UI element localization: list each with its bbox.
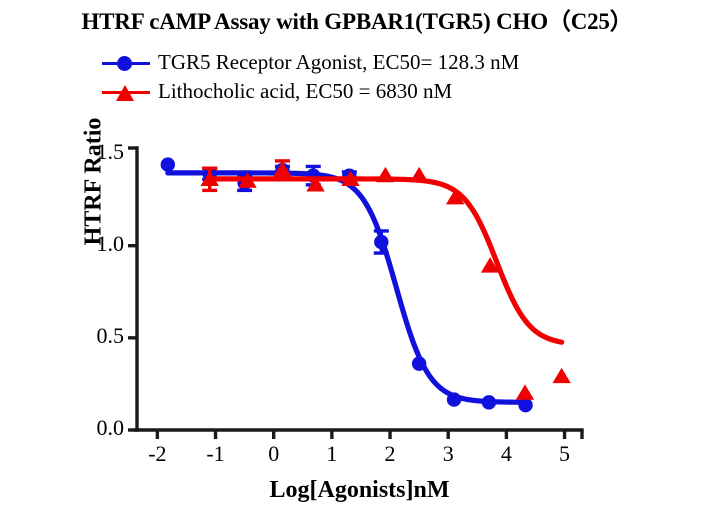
data-point-circle — [374, 235, 388, 249]
fit-curve-red — [210, 179, 562, 342]
x-tick-label: 0 — [254, 441, 294, 467]
x-tick-label: -1 — [196, 441, 236, 467]
data-point-triangle — [410, 167, 428, 182]
y-axis-label: HTRF Ratio — [81, 82, 108, 282]
data-point-triangle — [516, 384, 534, 399]
y-tick-label: 0.0 — [70, 415, 124, 441]
x-axis-label: Log[Agonists]nM — [137, 477, 582, 504]
data-point-circle — [482, 395, 496, 409]
x-tick-label: 3 — [428, 441, 468, 467]
data-point-circle — [518, 398, 532, 412]
x-tick-label: 5 — [545, 441, 585, 467]
data-point-triangle — [552, 368, 570, 383]
data-point-circle — [447, 392, 461, 406]
data-point-triangle — [376, 167, 394, 182]
y-tick-label: 0.5 — [70, 323, 124, 349]
series-layer — [161, 157, 571, 412]
x-tick-label: 4 — [486, 441, 526, 467]
chart-figure: HTRF cAMP Assay with GPBAR1(TGR5) CHO（C2… — [0, 0, 714, 521]
data-point-circle — [412, 356, 426, 370]
data-point-circle — [161, 157, 175, 171]
x-tick-label: 1 — [312, 441, 352, 467]
x-tick-label: -2 — [137, 441, 177, 467]
x-tick-label: 2 — [370, 441, 410, 467]
